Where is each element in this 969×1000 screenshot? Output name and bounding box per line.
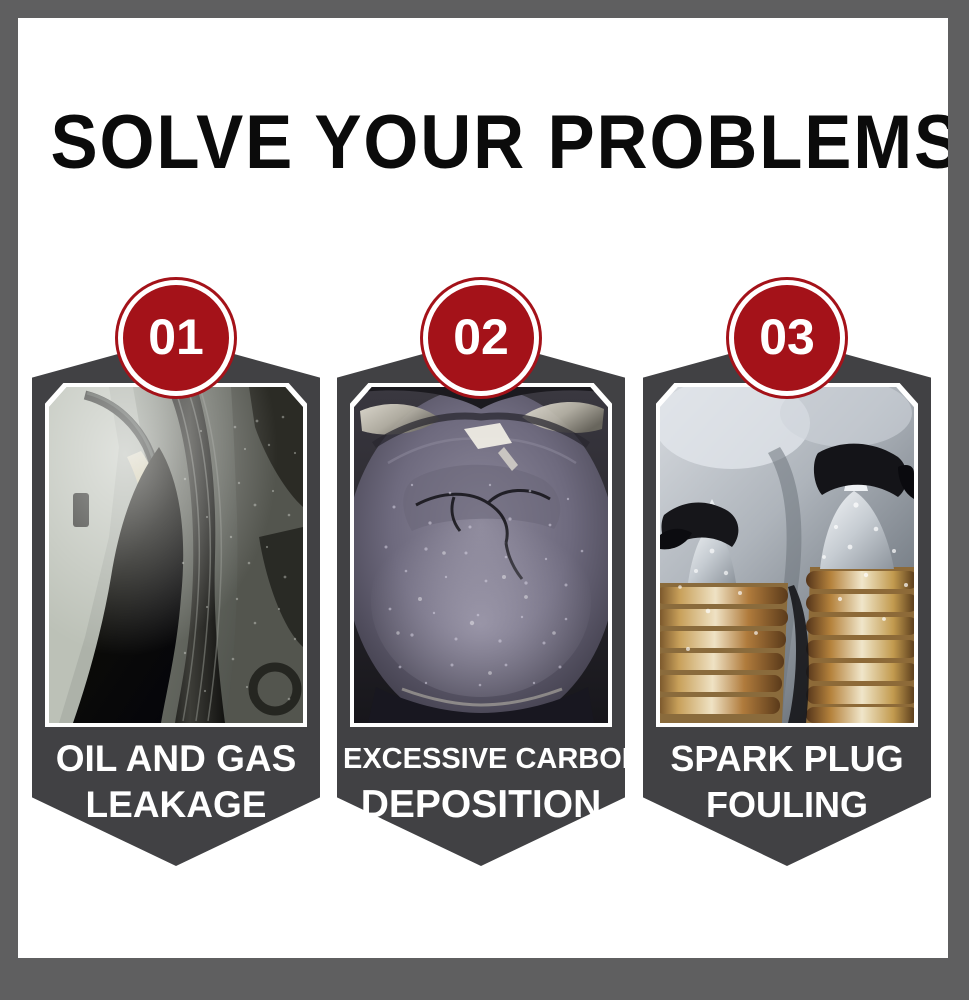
- photo-frame-1: [45, 383, 307, 727]
- caption-line-1: EXCESSIVE CARBON: [343, 736, 619, 782]
- problem-caption-2: EXCESSIVE CARBON DEPOSITION: [343, 736, 619, 828]
- problem-card-2[interactable]: 02: [337, 338, 625, 866]
- page-title: SOLVE YOUR PROBLEMS: [51, 102, 916, 184]
- step-badge-number: 03: [759, 312, 815, 362]
- caption-line-2: LEAKAGE: [38, 782, 314, 828]
- problem-photo-3: [660, 387, 914, 723]
- photo-frame-3: [656, 383, 918, 727]
- step-badge-number: 02: [453, 312, 509, 362]
- caption-line-2: DEPOSITION: [343, 782, 619, 828]
- problem-caption-3: SPARK PLUG FOULING: [649, 736, 925, 828]
- problem-caption-1: OIL AND GAS LEAKAGE: [38, 736, 314, 828]
- photo-frame-2: [350, 383, 612, 727]
- problem-card-1[interactable]: 01: [32, 338, 320, 866]
- problem-panel-row: 01: [18, 248, 948, 888]
- problem-card-3[interactable]: 03: [643, 338, 931, 866]
- problem-photo-2: [354, 387, 608, 723]
- step-badge-2: 02: [423, 280, 539, 396]
- problem-photo-1: [49, 387, 303, 723]
- poster-root: SOLVE YOUR PROBLEMS 01: [0, 0, 969, 1000]
- poster-canvas: SOLVE YOUR PROBLEMS 01: [18, 18, 948, 958]
- caption-line-1: SPARK PLUG: [649, 736, 925, 782]
- step-badge-3: 03: [729, 280, 845, 396]
- step-badge-number: 01: [148, 312, 204, 362]
- caption-line-1: OIL AND GAS: [38, 736, 314, 782]
- step-badge-1: 01: [118, 280, 234, 396]
- caption-line-2: FOULING: [649, 782, 925, 828]
